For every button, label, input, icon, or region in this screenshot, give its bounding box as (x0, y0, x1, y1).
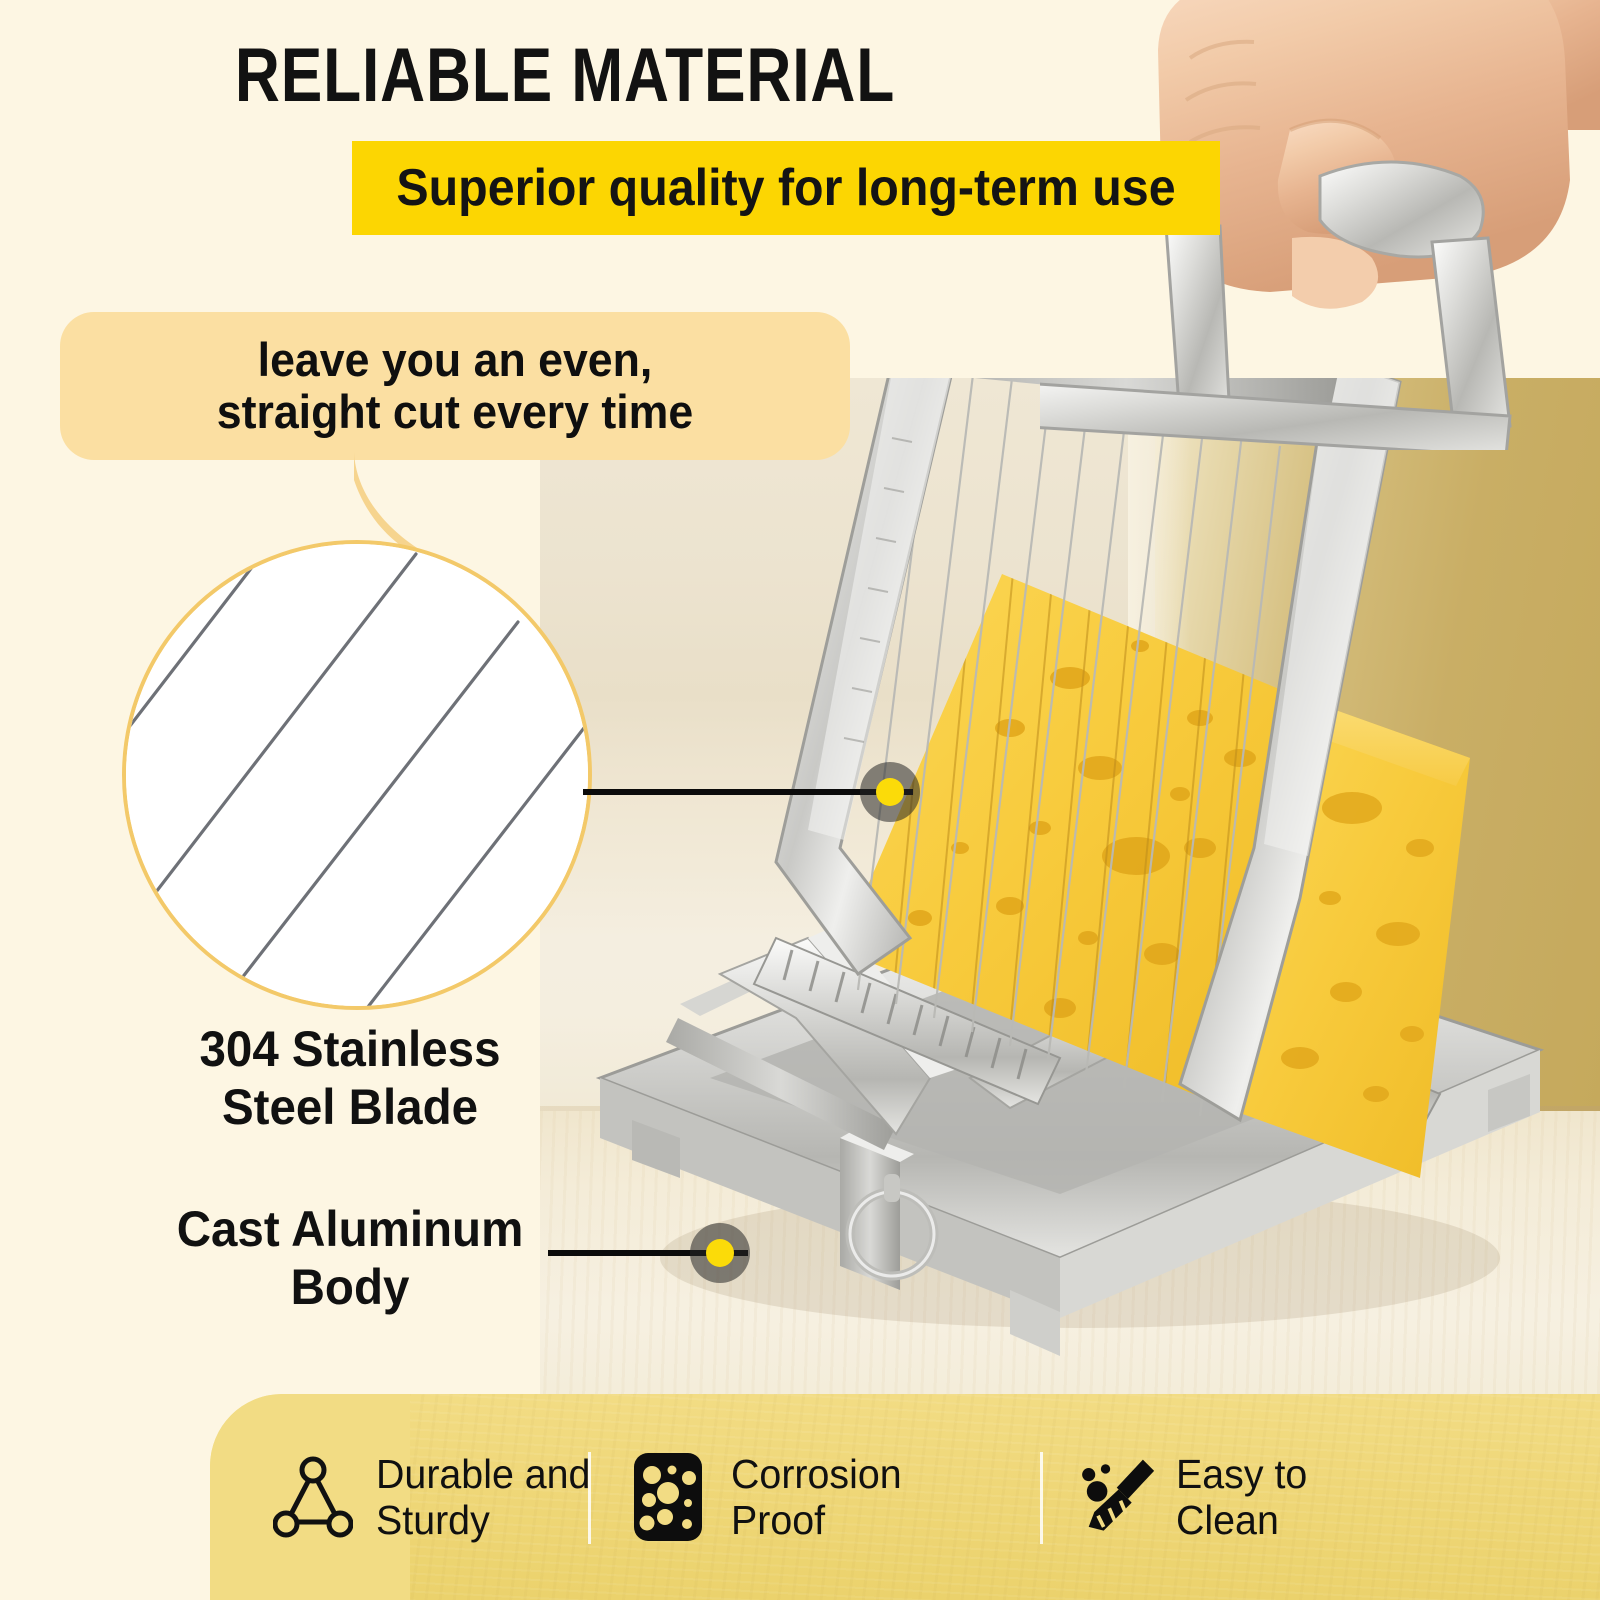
label-cast-aluminum-body: Cast Aluminum Body (75, 1200, 626, 1316)
callout-text: leave you an even, straight cut every ti… (80, 312, 831, 460)
feature-label: Corrosion Proof (731, 1451, 902, 1543)
page-title: RELIABLE MATERIAL (102, 36, 1029, 116)
callout-line-1: leave you an even, (258, 334, 653, 386)
callout-line-2: straight cut every time (217, 386, 693, 438)
corrosion-dots-icon (625, 1449, 711, 1545)
marker-dot (876, 778, 904, 806)
subtitle-text: Superior quality for long-term use (382, 141, 1189, 235)
marker-body (690, 1223, 750, 1283)
feature-item-corrosion: Corrosion Proof (625, 1394, 909, 1600)
broom-icon (1070, 1449, 1156, 1545)
feature-divider (1040, 1452, 1043, 1544)
feature-item-easy-clean: Easy to Clean (1070, 1394, 1313, 1600)
label-stainless-blade: 304 Stainless Steel Blade (75, 1020, 626, 1136)
triangle-nodes-icon (270, 1449, 356, 1545)
feature-bar: Durable and Sturdy (210, 1394, 1600, 1600)
blade-zoom-circle (122, 540, 592, 1010)
infographic-canvas: RELIABLE MATERIAL Superior quality for l… (0, 0, 1600, 1600)
marker-blade (860, 762, 920, 822)
feature-label: Durable and Sturdy (376, 1451, 590, 1543)
feature-label: Easy to Clean (1176, 1451, 1307, 1543)
feature-item-durable: Durable and Sturdy (270, 1394, 599, 1600)
marker-dot (706, 1239, 734, 1267)
